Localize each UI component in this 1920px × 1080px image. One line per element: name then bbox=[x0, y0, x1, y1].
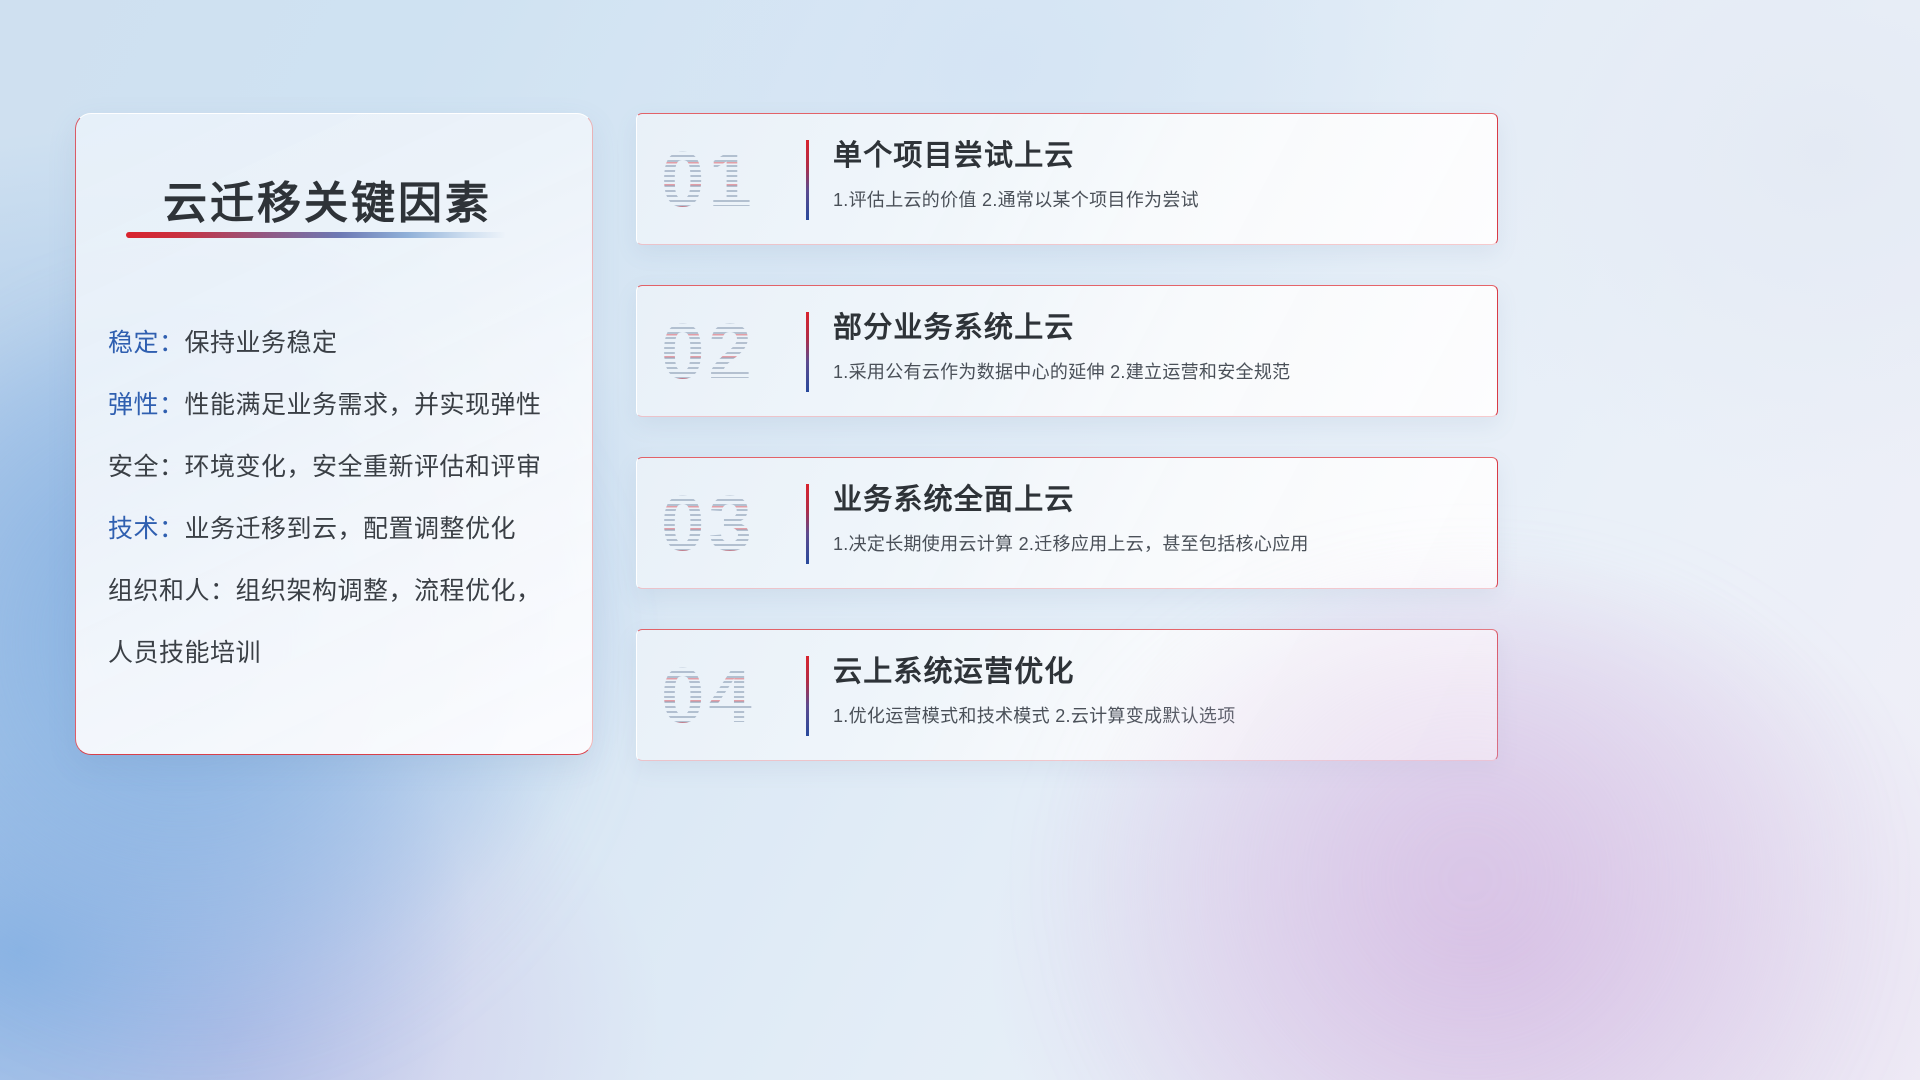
stage-card[interactable]: 01 01 单个项目尝试上云 1.评估上云的价值 2.通常以某个项目作为尝试 bbox=[636, 113, 1498, 245]
factor-list: 稳定：保持业务稳定 弹性：性能满足业务需求，并实现弹性 安全：环境变化，安全重新… bbox=[108, 312, 572, 684]
stage-card-list: 01 01 单个项目尝试上云 1.评估上云的价值 2.通常以某个项目作为尝试 0… bbox=[636, 113, 1498, 761]
card-divider-bar bbox=[806, 140, 809, 220]
stage-card-subtitle: 1.采用公有云作为数据中心的延伸 2.建立运营和安全规范 bbox=[833, 358, 1479, 384]
stage-card-title: 云上系统运营优化 bbox=[833, 654, 1479, 690]
stage-number-ghost-tint: 02 bbox=[661, 312, 756, 390]
factor-item: 弹性：性能满足业务需求，并实现弹性 bbox=[108, 374, 572, 436]
factor-body: 业务迁移到云，配置调整优化 bbox=[185, 515, 517, 543]
stage-card-subtitle: 1.决定长期使用云计算 2.迁移应用上云，甚至包括核心应用 bbox=[833, 530, 1479, 556]
card-divider-bar bbox=[806, 484, 809, 564]
factor-label: 弹性： bbox=[108, 391, 185, 419]
key-factors-panel: 云迁移关键因素 稳定：保持业务稳定 弹性：性能满足业务需求，并实现弹性 安全：环… bbox=[75, 113, 593, 755]
factor-body: 保持业务稳定 bbox=[185, 329, 338, 357]
stage-card[interactable]: 03 03 业务系统全面上云 1.决定长期使用云计算 2.迁移应用上云，甚至包括… bbox=[636, 457, 1498, 589]
stage-number-ghost-tint: 03 bbox=[661, 484, 756, 562]
factor-body: 性能满足业务需求，并实现弹性 bbox=[185, 391, 542, 419]
slide-canvas: 云迁移关键因素 稳定：保持业务稳定 弹性：性能满足业务需求，并实现弹性 安全：环… bbox=[0, 0, 1920, 1080]
card-divider-bar bbox=[806, 312, 809, 392]
stage-card[interactable]: 04 04 云上系统运营优化 1.优化运营模式和技术模式 2.云计算变成默认选项 bbox=[636, 629, 1498, 761]
stage-card-title: 部分业务系统上云 bbox=[833, 310, 1479, 346]
factor-item: 稳定：保持业务稳定 bbox=[108, 312, 572, 374]
factor-body: 组织架构调整，流程优化， bbox=[236, 577, 542, 605]
factor-label: 稳定： bbox=[108, 329, 185, 357]
stage-card-subtitle: 1.优化运营模式和技术模式 2.云计算变成默认选项 bbox=[833, 702, 1479, 728]
factor-body: 环境变化，安全重新评估和评审 bbox=[185, 453, 542, 481]
stage-card-title: 单个项目尝试上云 bbox=[833, 138, 1479, 174]
factor-item-continuation: 人员技能培训 bbox=[108, 622, 572, 684]
stage-number-ghost-tint: 01 bbox=[661, 140, 756, 218]
factor-item: 组织和人：组织架构调整，流程优化， bbox=[108, 560, 572, 622]
stage-card[interactable]: 02 02 部分业务系统上云 1.采用公有云作为数据中心的延伸 2.建立运营和安… bbox=[636, 285, 1498, 417]
factor-item: 技术：业务迁移到云，配置调整优化 bbox=[108, 498, 572, 560]
factor-item: 安全：环境变化，安全重新评估和评审 bbox=[108, 436, 572, 498]
factor-body: 人员技能培训 bbox=[108, 639, 261, 667]
title-underline-rule bbox=[126, 232, 506, 238]
stage-card-subtitle: 1.评估上云的价值 2.通常以某个项目作为尝试 bbox=[833, 186, 1479, 212]
stage-card-title: 业务系统全面上云 bbox=[833, 482, 1479, 518]
factor-label: 组织和人： bbox=[108, 577, 236, 605]
factor-label: 技术： bbox=[108, 515, 185, 543]
card-divider-bar bbox=[806, 656, 809, 736]
stage-number-ghost-tint: 04 bbox=[661, 656, 756, 734]
factor-label: 安全： bbox=[108, 453, 185, 481]
page-title: 云迁移关键因素 bbox=[163, 167, 492, 231]
